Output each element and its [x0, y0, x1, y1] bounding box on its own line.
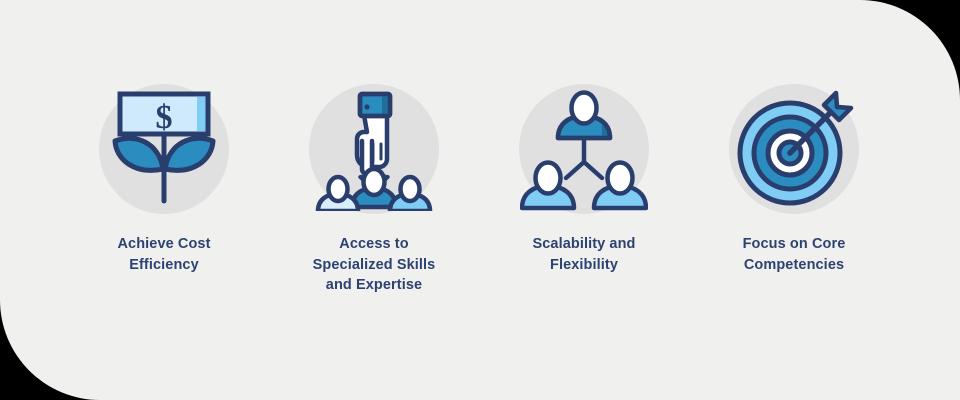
benefit-card-achieve-cost-efficiency[interactable]: $ Achieve Cost Efficiency [59, 84, 269, 275]
money-plant-icon: $ [104, 89, 224, 209]
icon-container [309, 84, 439, 214]
hand-picking-talent-icon [312, 87, 436, 211]
svg-text:$: $ [156, 99, 173, 136]
icon-container [519, 84, 649, 214]
benefits-card-row: $ Achieve Cost Efficiency [0, 84, 960, 296]
benefit-card-label: Focus on Core Competencies [743, 234, 846, 275]
icon-container: $ [99, 84, 229, 214]
page-canvas: $ Achieve Cost Efficiency [0, 0, 960, 400]
benefit-card-focus-on-core-competencies[interactable]: Focus on Core Competencies [689, 84, 899, 275]
target-arrow-icon [732, 87, 856, 211]
icon-container [729, 84, 859, 214]
benefit-card-label: Scalability and Flexibility [532, 234, 635, 275]
team-hierarchy-icon [520, 86, 648, 212]
benefit-card-scalability-and-flexibility[interactable]: Scalability and Flexibility [479, 84, 689, 275]
benefit-card-access-to-specialized-skills[interactable]: Access to Specialized Skills and Experti… [269, 84, 479, 296]
benefit-card-label: Access to Specialized Skills and Experti… [313, 234, 436, 296]
benefit-card-label: Achieve Cost Efficiency [117, 234, 210, 275]
